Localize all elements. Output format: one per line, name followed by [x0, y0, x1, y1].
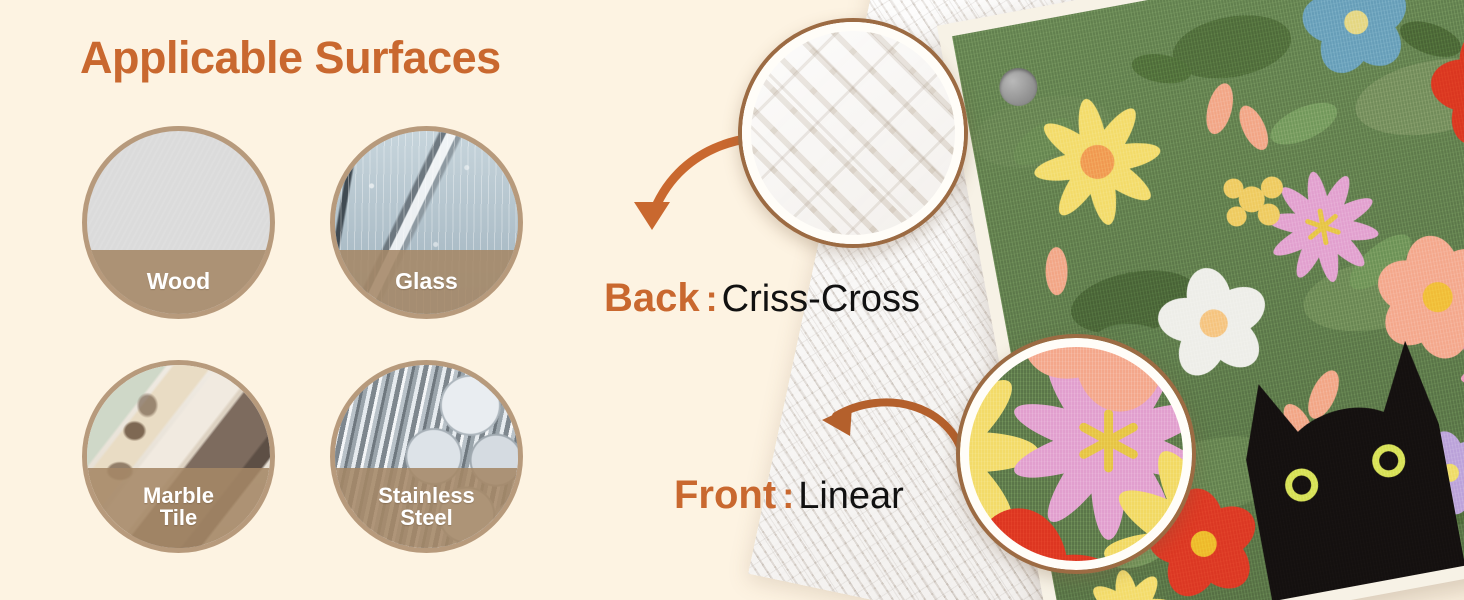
cat-illustration: [1230, 338, 1464, 600]
magnifier-back-texture: [738, 18, 968, 248]
surface-label-wood: Wood: [87, 250, 270, 314]
surface-card-stainless-steel[interactable]: Stainless Steel: [330, 360, 523, 553]
surface-label-stainless-steel: Stainless Steel: [335, 468, 518, 548]
surface-label-line-2: Tile: [143, 507, 214, 529]
surface-card-wood[interactable]: Wood: [82, 126, 275, 319]
infographic-canvas: Back:Criss-Cross Front:Linear Applicable…: [0, 0, 1464, 600]
magnifier-front-texture: [956, 334, 1196, 574]
surface-label-line-1: Marble: [143, 485, 214, 507]
callout-back-keyword: Back: [604, 276, 700, 320]
magnified-floral-texture: [960, 338, 1192, 570]
surface-card-marble-tile[interactable]: Marble Tile: [82, 360, 275, 553]
surface-label-line-2: Steel: [378, 507, 475, 529]
surface-label-line-1: Stainless: [378, 485, 475, 507]
callout-front-value: Linear: [798, 475, 904, 517]
surface-label-glass: Glass: [335, 250, 518, 314]
surface-label-marble-tile: Marble Tile: [87, 468, 270, 548]
callout-back-separator: :: [700, 278, 722, 319]
magnified-criss-cross-texture: [742, 22, 964, 244]
page-title: Applicable Surfaces: [80, 32, 501, 84]
callout-back: Back:Criss-Cross: [604, 276, 920, 321]
callout-front-keyword: Front: [674, 473, 776, 517]
callout-back-value: Criss-Cross: [722, 278, 920, 320]
surface-card-glass[interactable]: Glass: [330, 126, 523, 319]
callout-front-separator: :: [776, 475, 798, 516]
callout-front: Front:Linear: [674, 473, 904, 518]
